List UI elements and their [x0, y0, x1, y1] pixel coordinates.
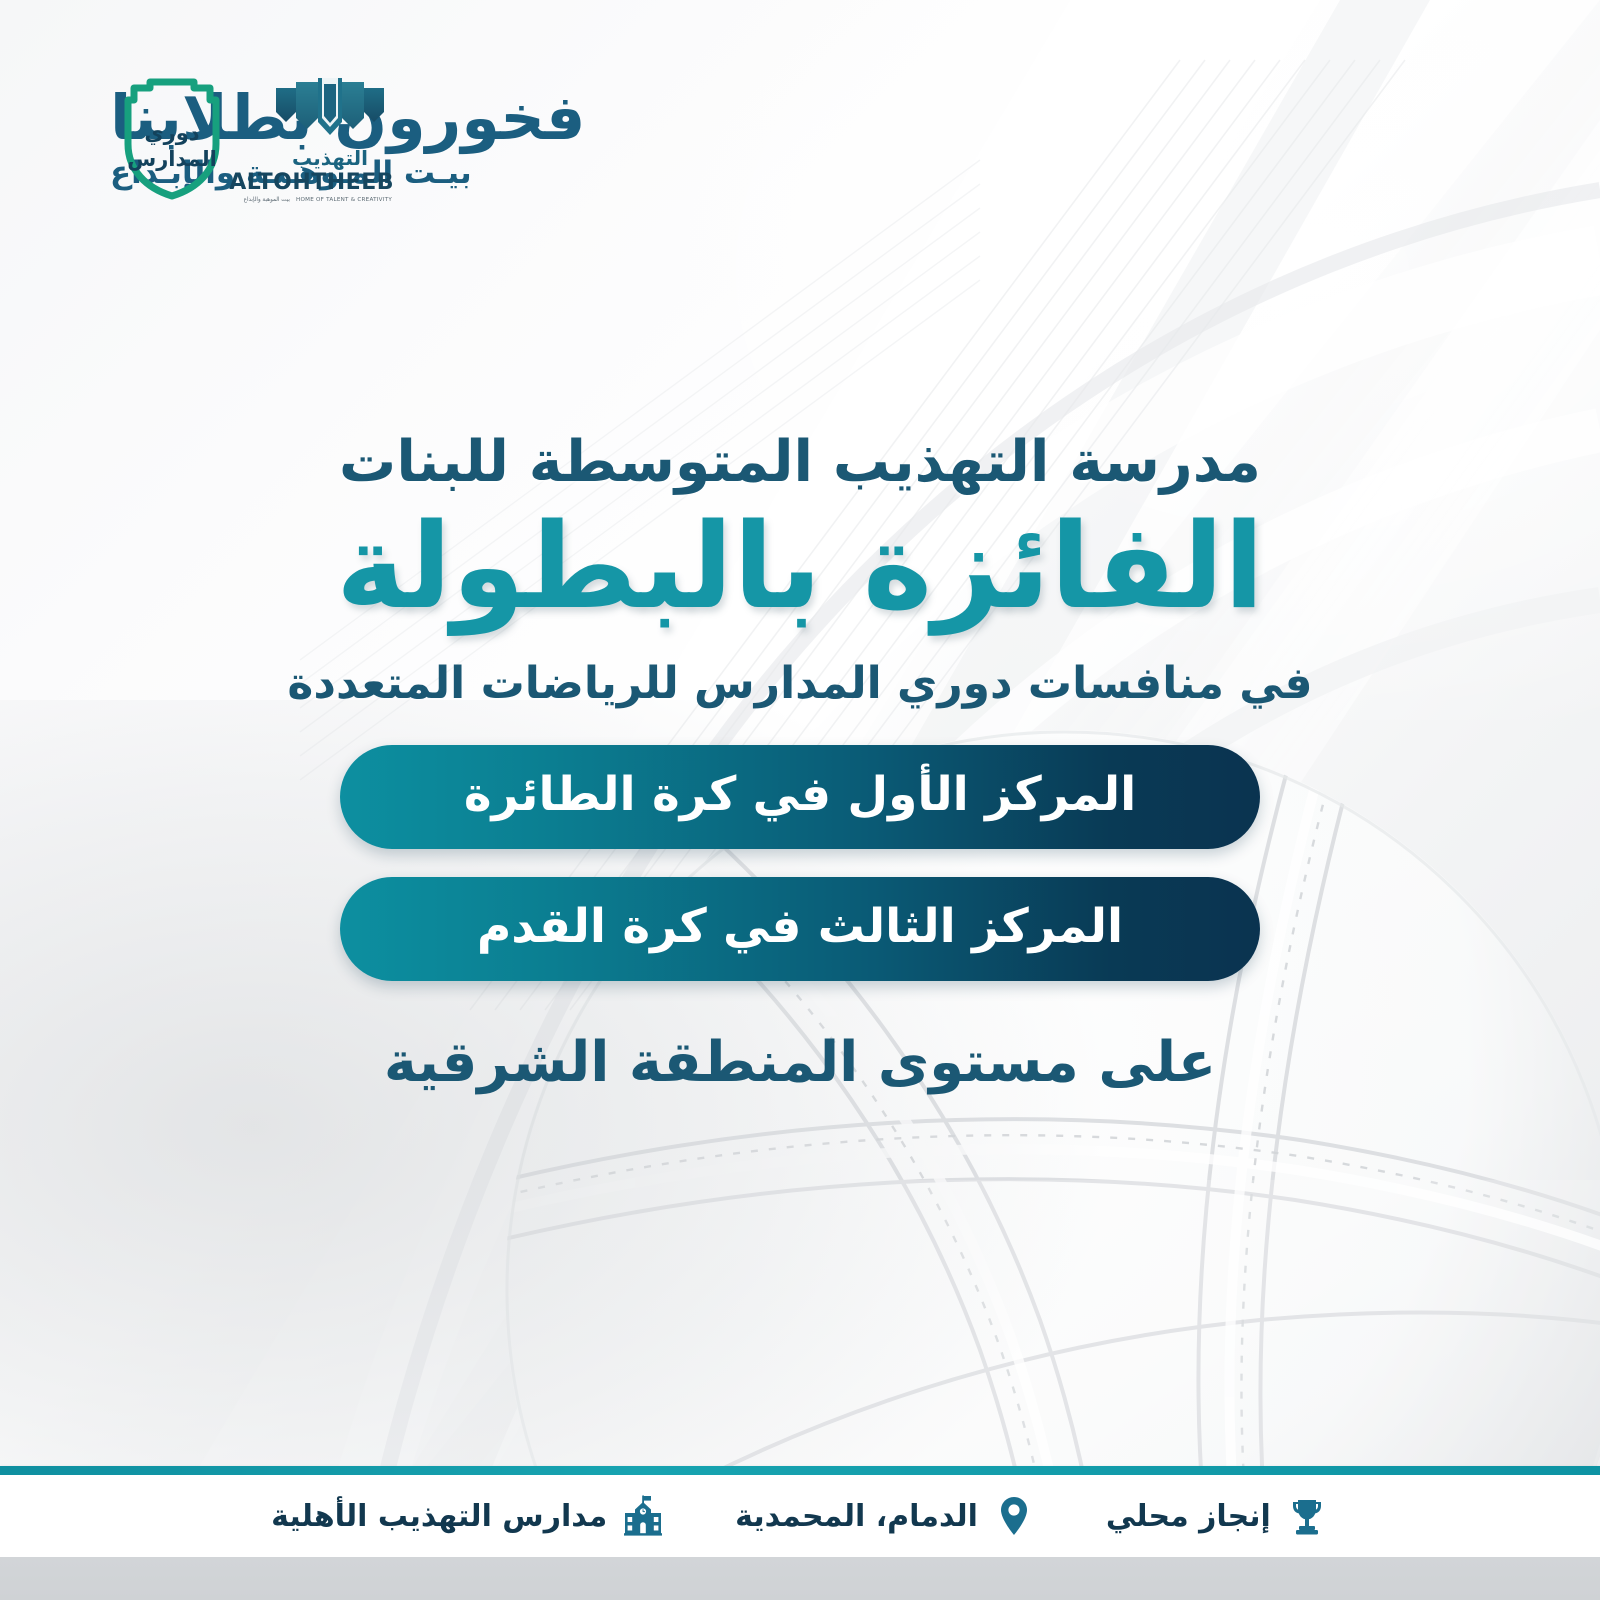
champion-title: الفائزة بالبطولة — [0, 500, 1600, 632]
competition-subtitle: في منافسات دوري المدارس للرياضات المتعدد… — [0, 658, 1600, 711]
footer-info-bar: إنجاز محلي الدمام، المحمدية — [0, 1475, 1600, 1557]
achievement-list: المركز الأول في كرة الطائرة المركز الثال… — [0, 745, 1600, 981]
league-shield-icon: دوري المدارس — [120, 78, 224, 200]
poster-canvas: فخورون بطلابنا بيـت المـوهـبـة والإبـداع — [0, 0, 1600, 1600]
altohtheeb-tagline: HOME OF TALENT & CREATIVITY بيت الموهبة … — [266, 197, 394, 203]
logo-group: التهذيب ALTOHTHEEB HOME OF TALENT & CREA… — [120, 78, 394, 203]
altohtheeb-latin-wordmark: ALTOHTHEEB — [266, 172, 394, 194]
location-pin-icon — [992, 1494, 1036, 1538]
achievement-label: المركز الثالث في كرة القدم — [477, 903, 1123, 954]
altohtheeb-logo: التهذيب ALTOHTHEEB HOME OF TALENT & CREA… — [266, 78, 394, 203]
school-building-icon — [621, 1494, 665, 1538]
svg-text:التهذيب: التهذيب — [292, 146, 368, 170]
footer-item-label: الدمام، المحمدية — [735, 1499, 978, 1534]
footer-item-location: الدمام، المحمدية — [735, 1494, 1036, 1538]
footer-base-strip — [0, 1557, 1600, 1600]
league-line1: دوري — [144, 121, 199, 146]
altohtheeb-tagline-ar: بيت الموهبة والإبداع — [244, 197, 290, 203]
altohtheeb-tagline-en: HOME OF TALENT & CREATIVITY — [296, 197, 392, 203]
poster-header: فخورون بطلابنا بيـت المـوهـبـة والإبـداع — [0, 0, 1600, 240]
footer-item-achievement: إنجاز محلي — [1106, 1494, 1329, 1538]
main-content: مدرسة التهذيب المتوسطة للبنات الفائزة با… — [0, 430, 1600, 1096]
footer-item-label: إنجاز محلي — [1106, 1499, 1271, 1534]
trophy-icon — [1285, 1494, 1329, 1538]
altohtheeb-crown-icon — [266, 78, 394, 140]
achievement-label: المركز الأول في كرة الطائرة — [464, 771, 1136, 822]
achievement-pill-volleyball: المركز الأول في كرة الطائرة — [340, 745, 1260, 849]
school-name: مدرسة التهذيب المتوسطة للبنات — [0, 430, 1600, 496]
footer-divider-rule — [0, 1466, 1600, 1475]
achievement-pill-football: المركز الثالث في كرة القدم — [340, 877, 1260, 981]
footer-item-label: مدارس التهذيب الأهلية — [271, 1499, 607, 1534]
school-league-logo: دوري المدارس — [120, 78, 224, 200]
region-scope: على مستوى المنطقة الشرقية — [0, 1029, 1600, 1096]
altohtheeb-arabic-wordmark: التهذيب — [266, 144, 394, 170]
footer-item-school: مدارس التهذيب الأهلية — [271, 1494, 665, 1538]
league-line2: المدارس — [127, 147, 217, 171]
